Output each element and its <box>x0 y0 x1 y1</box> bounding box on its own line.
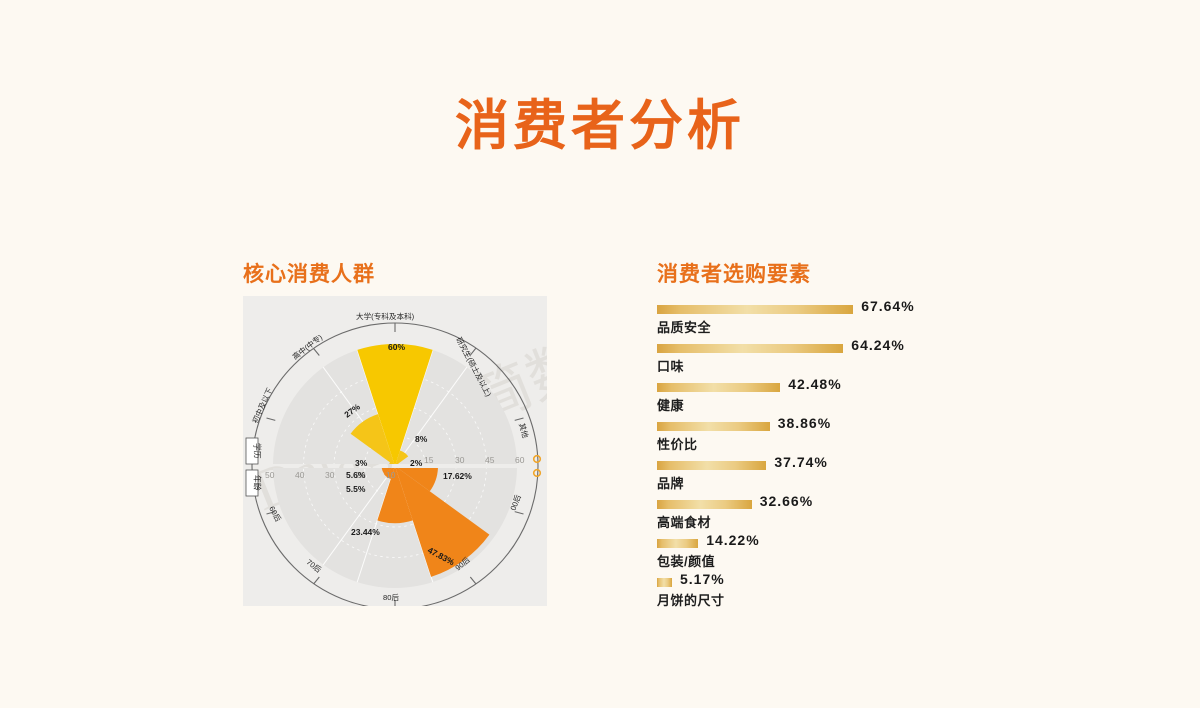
bar-value-label: 42.48% <box>788 376 841 392</box>
bar-track <box>657 500 752 509</box>
bar-value-label: 32.66% <box>760 493 813 509</box>
bar-value-label: 5.17% <box>680 571 725 587</box>
svg-text:30: 30 <box>325 470 335 480</box>
bar-value-label: 14.22% <box>706 532 759 548</box>
bar-category-label: 品牌 <box>657 473 684 492</box>
bar-value-label: 37.74% <box>774 454 827 470</box>
bar-fill <box>657 461 766 470</box>
bar-track <box>657 539 698 548</box>
seam-markers <box>534 456 541 477</box>
value-label-60s: 5.5% <box>346 484 366 494</box>
page-title: 消费者分析 <box>0 96 1200 156</box>
value-label-70s: 5.6% <box>346 470 366 480</box>
value-label-junior-high: 3% <box>355 458 368 468</box>
bar-fill <box>657 539 698 548</box>
bar-track <box>657 422 770 431</box>
polar-rose-chart: Datagoo | 简数据 <box>243 296 547 606</box>
value-label-80s: 23.44% <box>351 527 380 537</box>
cat-label-other: 其他 <box>517 422 531 440</box>
svg-text:学历: 学历 <box>253 443 263 459</box>
svg-text:50: 50 <box>265 470 275 480</box>
svg-text:15: 15 <box>424 455 434 465</box>
bar-value-label: 64.24% <box>851 337 904 353</box>
bar-fill <box>657 578 672 587</box>
svg-text:10: 10 <box>386 470 396 480</box>
bar-track <box>657 305 853 314</box>
bar-category-label: 性价比 <box>657 434 698 453</box>
bar-track <box>657 461 766 470</box>
bar-fill <box>657 500 752 509</box>
bar-row: 67.64%品质安全 <box>657 300 1127 339</box>
svg-text:年龄: 年龄 <box>253 475 263 491</box>
bar-row: 64.24%口味 <box>657 339 1127 378</box>
bar-row: 5.17%月饼的尺寸 <box>657 573 1127 612</box>
bar-row: 42.48%健康 <box>657 378 1127 417</box>
svg-text:45: 45 <box>485 455 495 465</box>
bar-track <box>657 578 672 587</box>
section-heading-core-consumers: 核心消费人群 <box>243 258 375 288</box>
bar-category-label: 口味 <box>657 356 684 375</box>
bar-value-label: 38.86% <box>778 415 831 431</box>
value-label-00s: 17.62% <box>443 471 472 481</box>
bar-fill <box>657 344 843 353</box>
purchase-factors-bar-chart: 67.64%品质安全64.24%口味42.48%健康38.86%性价比37.74… <box>657 300 1127 612</box>
bar-category-label: 月饼的尺寸 <box>657 590 725 609</box>
bar-fill <box>657 422 770 431</box>
bar-fill <box>657 383 780 392</box>
cat-label-80s: 80后 <box>383 592 399 602</box>
bar-category-label: 包装/颜值 <box>657 551 715 570</box>
bar-track <box>657 344 843 353</box>
rose-chart-svg: Datagoo | 简数据 <box>243 296 547 606</box>
bar-category-label: 高端食材 <box>657 512 711 531</box>
bar-row: 32.66%高端食材 <box>657 495 1127 534</box>
cat-label-college: 大学(专科及本科) <box>356 311 415 321</box>
value-label-college: 60% <box>388 342 405 352</box>
bar-fill <box>657 305 853 314</box>
bar-row: 37.74%品牌 <box>657 456 1127 495</box>
bar-category-label: 品质安全 <box>657 317 711 336</box>
value-label-graduate: 8% <box>415 434 428 444</box>
bar-value-label: 67.64% <box>861 298 914 314</box>
bar-row: 14.22%包装/颜值 <box>657 534 1127 573</box>
bar-row: 38.86%性价比 <box>657 417 1127 456</box>
bar-category-label: 健康 <box>657 395 684 414</box>
svg-text:30: 30 <box>455 455 465 465</box>
svg-text:40: 40 <box>295 470 305 480</box>
section-heading-purchase-factors: 消费者选购要素 <box>657 258 811 288</box>
value-label-other: 2% <box>410 458 423 468</box>
cat-label-high-school: 高中(中专) <box>290 332 324 362</box>
svg-text:60: 60 <box>515 455 525 465</box>
bar-track <box>657 383 780 392</box>
